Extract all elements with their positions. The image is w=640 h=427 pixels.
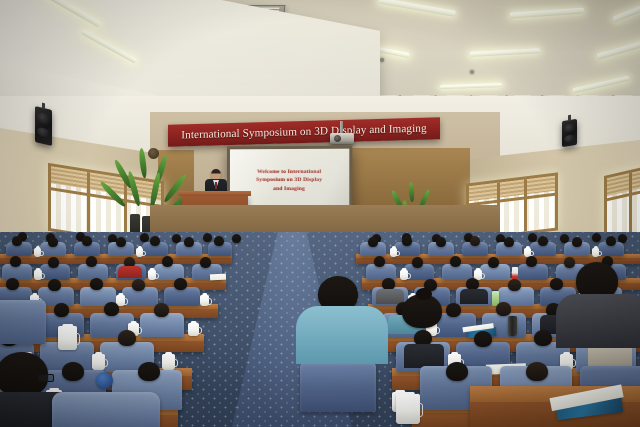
attendee-head	[86, 256, 97, 267]
ceiling-light	[470, 48, 540, 57]
attendee-head	[526, 362, 548, 381]
attendee-head	[184, 237, 194, 247]
foreground-attendee-right	[560, 262, 640, 358]
foreground-attendee-center	[296, 276, 388, 386]
projector-lens-icon	[334, 135, 341, 142]
attendee-head	[526, 256, 537, 267]
attendee-head	[174, 278, 187, 290]
attendee-head	[436, 237, 446, 247]
foreground-attendee-bun	[390, 288, 460, 368]
podium-top	[179, 191, 251, 196]
ceiling-light	[613, 0, 640, 22]
slide-line-2: Symposium on 3D Display	[256, 176, 322, 185]
attendee-torso	[296, 306, 388, 364]
attendee-head	[104, 302, 119, 316]
attendee-head	[162, 256, 173, 267]
attendee-head	[150, 236, 160, 246]
seat	[0, 300, 46, 344]
loudspeaker-icon	[562, 119, 577, 147]
attendee-head	[132, 279, 145, 291]
attendee-head	[154, 303, 169, 317]
attendee-head	[6, 278, 19, 290]
attendee-torso	[118, 266, 142, 278]
attendee-head	[200, 257, 211, 268]
attendee-head	[572, 237, 582, 247]
attendee-torso	[556, 294, 640, 348]
attendee-head	[504, 237, 514, 247]
attendee-head	[54, 303, 69, 317]
projector-icon	[330, 133, 354, 144]
loudspeaker-icon	[35, 106, 52, 146]
slide-text-block: Welcome to International Symposium on 3D…	[256, 167, 322, 193]
teapot-mug	[58, 326, 77, 350]
attendee-head	[48, 257, 59, 268]
attendee-head	[488, 257, 499, 268]
attendee-head	[48, 237, 58, 247]
attendee-head	[90, 278, 103, 290]
sprinkler-icon	[380, 58, 384, 62]
ceiling-light	[440, 83, 502, 89]
ceiling-light	[572, 76, 630, 94]
wall-emblem	[148, 148, 159, 159]
event-banner-text: International Symposium on 3D Display an…	[181, 123, 426, 142]
attendee-head	[48, 279, 61, 291]
attendee-head	[606, 236, 616, 246]
attendee-head	[412, 257, 423, 268]
attendee-head	[10, 256, 21, 267]
attendee-head	[402, 236, 412, 246]
attendee-head	[474, 331, 492, 347]
attendee-head	[508, 279, 521, 291]
teapot-mug	[396, 394, 420, 424]
attendee-head	[470, 236, 480, 246]
attendee-head	[214, 236, 224, 246]
attendee-head	[12, 236, 22, 246]
attendee-head	[82, 236, 92, 246]
attendee-head	[534, 330, 552, 346]
ceiling-light	[596, 38, 640, 60]
ceiling-light	[510, 7, 584, 18]
slide-line-3: and Imaging	[256, 185, 322, 194]
attendee-head	[368, 237, 378, 247]
attendee-head	[496, 302, 511, 316]
eyeglasses-icon	[38, 374, 54, 382]
attendee-head	[450, 256, 461, 267]
attendee-badge	[96, 372, 113, 389]
attendee-head	[138, 362, 160, 381]
attendee-head	[118, 330, 136, 346]
hair-bun	[416, 288, 432, 300]
presenter-tie	[215, 182, 217, 189]
slide-line-1: Welcome to International	[256, 167, 322, 176]
sprinkler-icon	[470, 70, 474, 74]
seat	[52, 392, 160, 427]
attendee-head	[116, 237, 126, 247]
ceiling-light	[378, 0, 456, 17]
attendee-head	[538, 236, 548, 246]
conference-hall-photo: International Symposium on 3D Display an…	[0, 0, 640, 427]
attendee-head	[374, 256, 385, 267]
